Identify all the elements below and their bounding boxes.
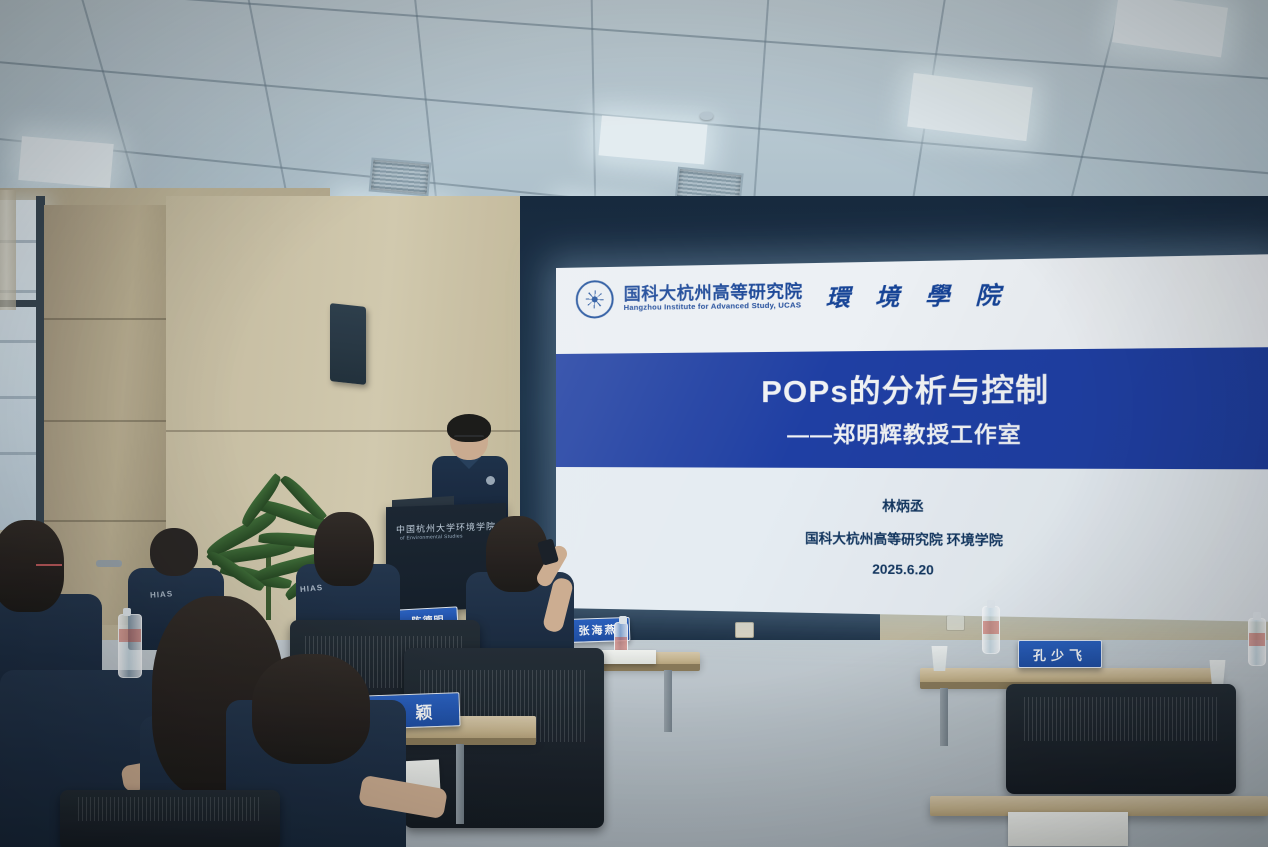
water-bottle[interactable] bbox=[1248, 618, 1266, 666]
school-name-script: 環 境 學 院 bbox=[826, 275, 1010, 313]
document-sheet[interactable] bbox=[1008, 812, 1128, 846]
chair[interactable] bbox=[1006, 684, 1236, 794]
presentation-date: 2025.6.20 bbox=[556, 557, 1268, 583]
desk-leg bbox=[940, 688, 948, 746]
smoke-detector-icon bbox=[700, 112, 713, 120]
glasses-icon bbox=[454, 435, 484, 445]
presentation-slide: 国科大杭州高等研究院 Hangzhou Institute for Advanc… bbox=[556, 254, 1268, 622]
power-outlet[interactable] bbox=[735, 622, 754, 638]
slide-subtitle: ——郑明辉教授工作室 bbox=[556, 417, 1268, 449]
door-panel-seam bbox=[44, 420, 166, 422]
podium-sign-en: of Environmental Studies bbox=[400, 533, 463, 541]
slide-header: 国科大杭州高等研究院 Hangzhou Institute for Advanc… bbox=[556, 254, 1268, 332]
hvac-vent bbox=[369, 157, 432, 196]
door-panel-seam bbox=[44, 318, 166, 320]
name-placard-label: 孔少飞 bbox=[1033, 645, 1087, 664]
desk-leg bbox=[664, 670, 672, 732]
presenter-name: 林炳丞 bbox=[556, 493, 1268, 518]
slide-title: POPs的分析与控制 bbox=[556, 362, 1268, 412]
audience-person bbox=[466, 516, 574, 666]
water-bottle[interactable] bbox=[118, 614, 142, 678]
power-outlet[interactable] bbox=[946, 615, 965, 631]
name-placard-label: 张海燕 bbox=[578, 621, 618, 638]
projection-screen: 国科大杭州高等研究院 Hangzhou Institute for Advanc… bbox=[556, 254, 1268, 622]
institute-logotype: 国科大杭州高等研究院 Hangzhou Institute for Advanc… bbox=[624, 283, 803, 312]
wall-speaker bbox=[330, 303, 366, 385]
ucas-logo-icon bbox=[576, 280, 614, 319]
slide-title-band: POPs的分析与控制 ——郑明辉教授工作室 bbox=[556, 347, 1268, 469]
curtain bbox=[0, 190, 16, 310]
water-bottle[interactable] bbox=[982, 606, 1000, 654]
ceiling-light bbox=[18, 136, 113, 188]
presenter-affiliation: 国科大杭州高等研究院 环境学院 bbox=[556, 525, 1268, 553]
desk-leg bbox=[456, 744, 464, 824]
institute-name-en: Hangzhou Institute for Advanced Study, U… bbox=[624, 301, 803, 312]
seminar-room-scene: 国科大杭州高等研究院 Hangzhou Institute for Advanc… bbox=[0, 0, 1268, 847]
notebook[interactable] bbox=[596, 650, 656, 664]
name-placard: 孔少飞 bbox=[1018, 640, 1102, 668]
chair[interactable] bbox=[60, 790, 280, 847]
slide-body: 林炳丞 国科大杭州高等研究院 环境学院 2025.6.20 bbox=[556, 467, 1268, 622]
